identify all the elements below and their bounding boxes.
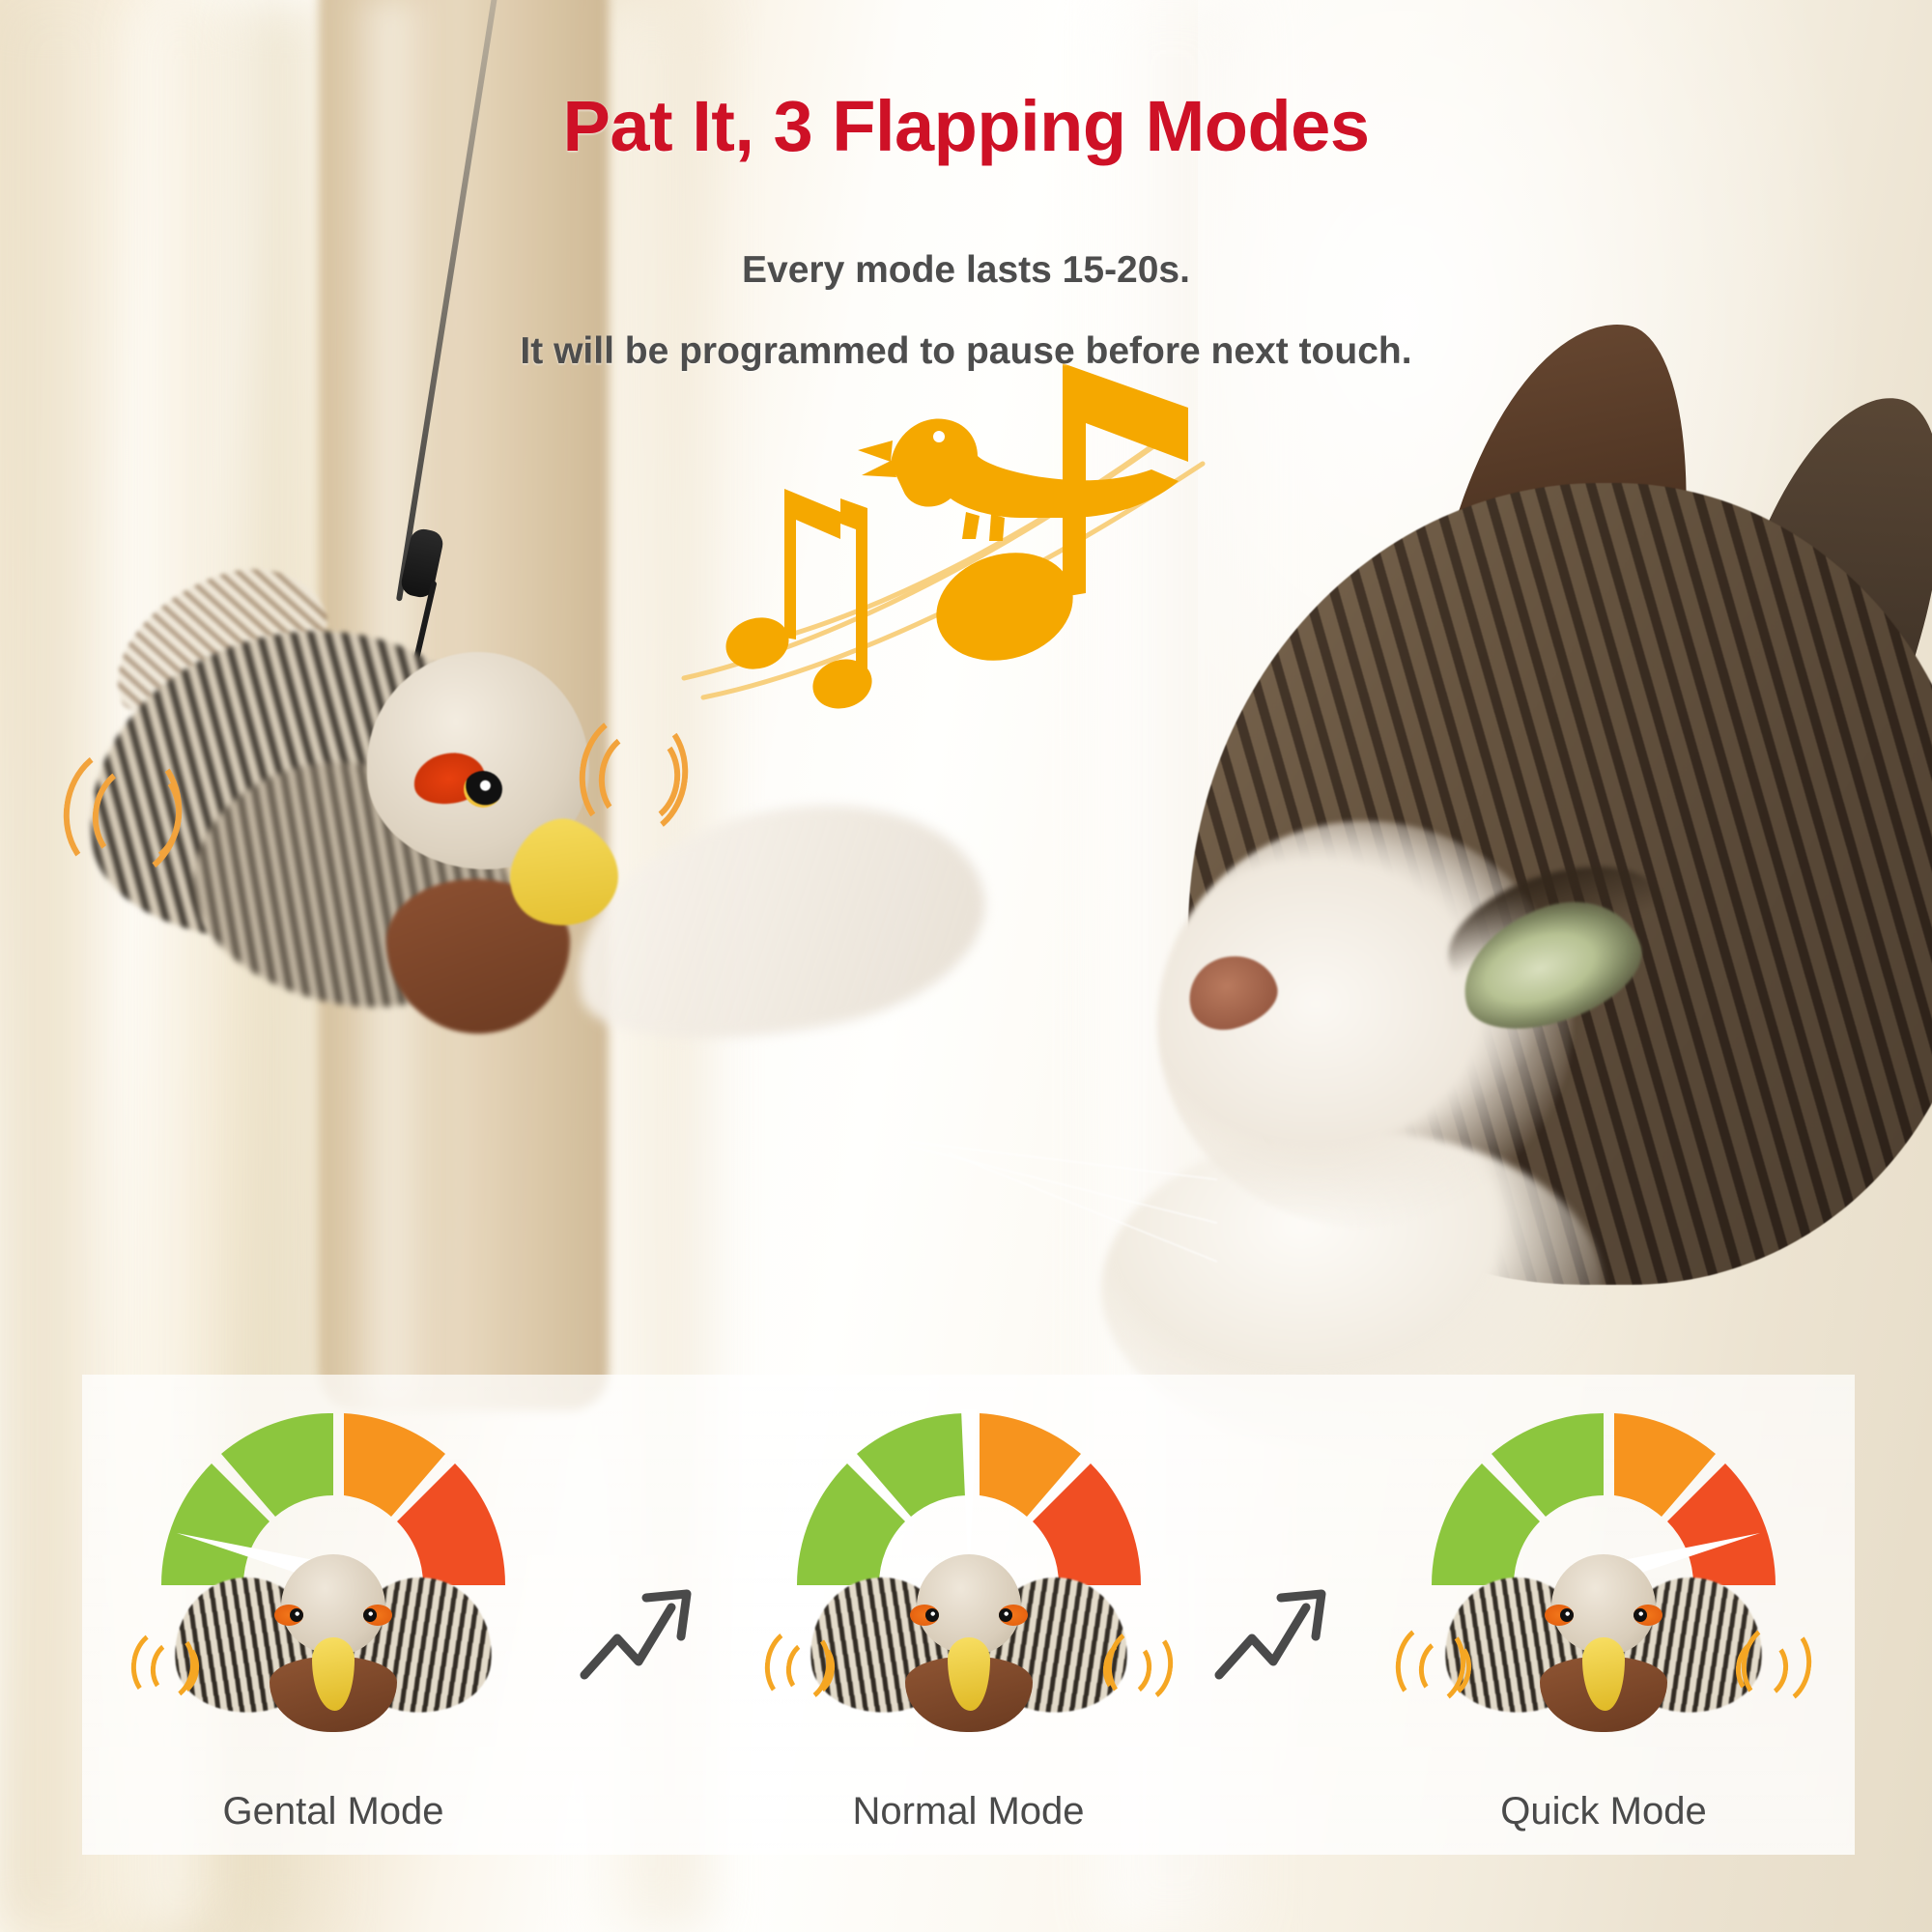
product-feature-image: Pat It, 3 Flapping Modes Every mode last… xyxy=(0,0,1932,1932)
bird-eye xyxy=(290,1608,303,1622)
bird-eye xyxy=(1560,1608,1574,1622)
mode-card-quick[interactable]: Quick Mode xyxy=(1352,1375,1855,1855)
mode-label: Normal Mode xyxy=(718,1790,1220,1833)
toy-eye xyxy=(464,771,502,808)
bird-eye xyxy=(1634,1608,1647,1622)
trending-up-zigzag-arrow-icon xyxy=(579,1582,724,1689)
bird-song-graphic xyxy=(676,319,1275,724)
subtitle-line-1: Every mode lasts 15-20s. xyxy=(0,249,1932,292)
music-note-icon xyxy=(720,489,878,716)
mode-label: Gental Mode xyxy=(82,1790,584,1833)
bird-eye xyxy=(999,1608,1012,1622)
mode-card-gental[interactable]: Gental Mode xyxy=(82,1375,584,1855)
bird-eye xyxy=(925,1608,939,1622)
flapping-modes-panel: Gental Mode xyxy=(82,1375,1855,1855)
plush-bird-thumbnail xyxy=(1444,1554,1763,1733)
subtitle-line-2: It will be programmed to pause before ne… xyxy=(0,330,1932,373)
plush-bird-thumbnail xyxy=(810,1554,1128,1733)
music-note-icon xyxy=(923,363,1188,677)
mode-separator xyxy=(1220,1375,1353,1855)
mode-separator xyxy=(584,1375,718,1855)
mode-label: Quick Mode xyxy=(1352,1790,1855,1833)
bird-eye xyxy=(363,1608,377,1622)
trending-up-zigzag-arrow-icon xyxy=(1213,1582,1358,1689)
page-title: Pat It, 3 Flapping Modes xyxy=(0,85,1932,167)
mode-card-normal[interactable]: Normal Mode xyxy=(718,1375,1220,1855)
plush-bird-thumbnail xyxy=(174,1554,493,1733)
